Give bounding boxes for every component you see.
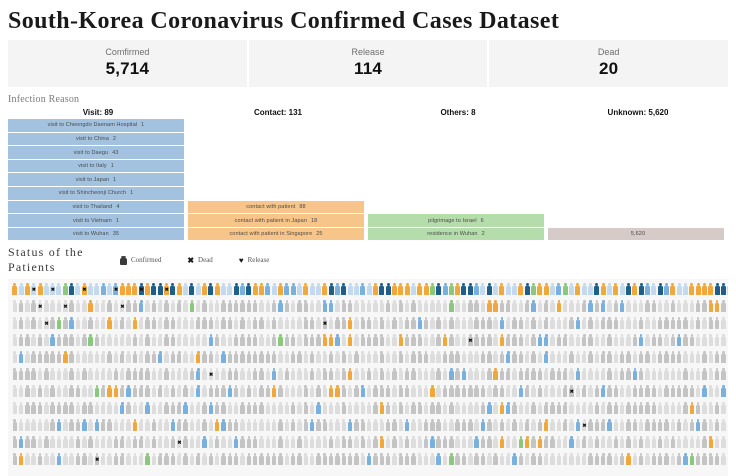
person-body [582,286,587,295]
person-body [247,337,251,345]
person-body [291,303,295,311]
patient-icon[interactable] [727,418,728,435]
person-body [215,337,219,345]
dead-marker-icon: ✖ [38,305,42,309]
person-body [63,456,67,464]
person-body [493,354,497,362]
person-body [63,439,67,447]
person-body [316,439,320,447]
person-body [361,303,365,311]
person-body [240,337,244,345]
person-body [13,303,17,311]
person-body [234,371,238,379]
person-body [139,439,143,447]
person-body [595,303,599,311]
person-body [557,371,561,379]
person-body [652,371,656,379]
person-body [418,320,422,328]
person-body [196,439,200,447]
person-body [380,388,384,396]
person-body [323,405,327,413]
person-body [405,286,410,295]
person-body [158,337,162,345]
person-body [177,303,181,311]
reason-bar[interactable]: visit to Japan1 [8,173,184,186]
person-body [544,405,548,413]
person-body [69,337,73,345]
person-body [57,388,61,396]
person-body [449,337,453,345]
person-body [481,388,485,396]
patient-grid-row: ✖✖✖✖✖✖ [8,282,728,299]
person-body [487,422,491,430]
person-body [671,456,675,464]
person-body [683,337,687,345]
person-body [234,354,238,362]
patient-grid-row: ✖ [8,418,728,435]
person-body [285,422,289,430]
person-body [145,456,149,464]
person-body [272,337,276,345]
person-body [278,337,282,345]
person-body [399,439,403,447]
person-body [177,405,181,413]
person-body [569,286,574,295]
person-body [544,422,548,430]
patient-icon[interactable] [727,282,728,299]
person-body [607,337,611,345]
reason-column-contact: contact with patient88contact with patie… [188,201,364,242]
person-body [481,439,485,447]
person-body [449,405,453,413]
person-body [120,286,125,295]
person-body [392,337,396,345]
patient-icon[interactable] [727,299,728,316]
reason-bar[interactable]: visit to Daegu43 [8,146,184,159]
person-body [120,405,124,413]
person-body [266,337,270,345]
person-body [329,405,333,413]
person-body [82,439,86,447]
person-body [190,371,194,379]
person-body [506,320,510,328]
person-body [487,354,491,362]
person-body [196,405,200,413]
patient-icon[interactable] [727,452,728,469]
stat-card-release: Release 114 [249,40,488,87]
person-body [443,337,447,345]
person-body [500,422,504,430]
cross-mark-icon: ✖ [187,256,194,265]
person-body [164,354,168,362]
person-body [424,303,428,311]
person-body [266,405,270,413]
reason-bar[interactable]: visit to Italy1 [8,160,184,173]
person-body [620,337,624,345]
person-body [436,388,440,396]
person-body [455,456,459,464]
person-body [354,286,359,295]
person-body [449,354,453,362]
person-body [544,456,548,464]
person-body [120,388,124,396]
stat-value-confirmed: 5,714 [8,59,247,79]
person-body [76,439,80,447]
person-body [392,456,396,464]
person-body [278,439,282,447]
person-body [481,422,485,430]
reason-bar-value: 25 [316,231,322,237]
person-body [449,303,453,311]
person-body [373,303,377,311]
person-body [639,456,643,464]
person-body [493,388,497,396]
person-body [380,320,384,328]
person-body [677,422,681,430]
reason-bar[interactable]: visit to Cheongdo Daenam Hospital1 [8,119,184,132]
person-body [215,422,219,430]
person-body [487,303,491,311]
person-body [373,388,377,396]
person-body [202,388,206,396]
person-body [348,286,353,295]
person-body [209,354,213,362]
reason-bar[interactable]: visit to Thailand4 [8,201,184,214]
person-body [278,354,282,362]
person-body [107,456,111,464]
person-body [107,405,111,413]
person-body [12,286,17,295]
person-body [620,388,624,396]
patient-grid-row: ✖ [8,435,728,452]
person-body [639,286,644,295]
person-body [158,422,162,430]
person-body [126,286,131,295]
patient-icon[interactable] [727,367,728,384]
person-body [253,422,257,430]
person-body [614,405,618,413]
person-body [512,371,516,379]
person-body [613,286,618,295]
person-body [550,405,554,413]
person-body [696,405,700,413]
person-body [266,303,270,311]
person-body [101,354,105,362]
person-body [614,337,618,345]
person-body [114,388,118,396]
person-body [101,286,106,295]
person-body [563,388,567,396]
person-body [398,286,403,295]
person-body [247,320,251,328]
reason-bar[interactable]: visit to Vietnam1 [8,214,184,227]
person-body [601,456,605,464]
person-body [569,456,573,464]
person-body [304,405,308,413]
person-body [721,337,725,345]
person-body [417,286,422,295]
person-body [234,320,238,328]
person-body [202,422,206,430]
person-body [285,337,289,345]
person-body [126,388,130,396]
person-body [297,439,301,447]
patient-icon[interactable] [727,435,728,452]
patient-icon[interactable] [727,401,728,418]
person-body [582,337,586,345]
reason-bar[interactable]: residence in Wuhan2 [368,228,544,241]
patient-icon[interactable] [727,316,728,333]
person-body [525,371,529,379]
person-body [69,405,73,413]
person-body [708,286,713,295]
person-body [715,337,719,345]
person-body [361,422,365,430]
person-body [114,456,118,464]
person-body [595,320,599,328]
person-body [291,286,296,295]
person-body [449,371,453,379]
person-body [31,439,35,447]
person-body [588,337,592,345]
person-body [418,456,422,464]
person-body [645,388,649,396]
person-body [348,456,352,464]
person-body [31,422,35,430]
person-body [44,303,48,311]
person-body [525,354,529,362]
person-body [63,405,67,413]
person-body [607,371,611,379]
person-body [519,303,523,311]
person-body [82,371,86,379]
person-body [721,303,725,311]
reason-bar[interactable]: visit to China2 [8,133,184,146]
reason-bar[interactable]: contact with patient in Singapore25 [188,228,364,241]
person-body [158,286,163,295]
person-body [493,337,497,345]
person-body [69,422,73,430]
person-body [335,405,339,413]
person-body [284,286,289,295]
person-body [152,388,156,396]
person-body [107,422,111,430]
person-body [506,388,510,396]
person-body [120,354,124,362]
person-body [531,354,535,362]
person-body [430,371,434,379]
person-body [449,320,453,328]
person-body [715,354,719,362]
person-body [240,303,244,311]
person-body [601,405,605,413]
person-body [380,405,384,413]
person-body [652,388,656,396]
person-body [190,337,194,345]
person-body [468,303,472,311]
reason-bar-label: visit to China [76,136,109,142]
person-body [253,371,257,379]
person-body [228,405,232,413]
person-body [677,303,681,311]
person-body [715,286,720,295]
patient-icon[interactable] [727,350,728,367]
person-body [424,337,428,345]
person-body [13,320,17,328]
person-body [620,405,624,413]
person-body [101,439,105,447]
reason-bar[interactable]: pilgrimage to Israel6 [368,214,544,227]
person-body [601,388,605,396]
person-body [544,371,548,379]
dead-marker-icon: ✖ [582,424,586,428]
person-body [690,303,694,311]
person-body [139,388,143,396]
person-body [297,405,301,413]
legend-label-confirmed: Confirmed [131,256,161,264]
person-body [323,371,327,379]
person-body [525,286,530,295]
person-body [69,286,74,295]
person-body [31,405,35,413]
person-body [525,337,529,345]
person-body [196,286,201,295]
person-body [316,320,320,328]
reason-bar[interactable]: visit to Wuhan35 [8,228,184,241]
person-body [361,371,365,379]
person-body [209,388,213,396]
stat-label-confirmed: Comfirmed [8,46,247,59]
dead-marker-icon: ✖ [114,288,118,292]
person-body [696,286,701,295]
person-body [500,354,504,362]
person-body [13,405,17,413]
person-body [266,422,270,430]
person-body [215,405,219,413]
reason-bar[interactable]: visit to Shincheonji Church1 [8,187,184,200]
person-body [177,337,181,345]
person-body [418,422,422,430]
person-body [455,439,459,447]
person-body [462,354,466,362]
person-body [253,439,257,447]
person-body [259,388,263,396]
person-body [563,354,567,362]
patient-status-grid: ✖✖✖✖✖✖✖✖✖✖✖✖✖✖✖✖✖ [8,279,728,476]
person-body [607,405,611,413]
person-body [721,422,725,430]
person-body [354,303,358,311]
person-body [88,439,92,447]
person-body [462,388,466,396]
person-body [696,439,700,447]
reason-bar[interactable]: contact with patient88 [188,201,364,214]
reason-bar[interactable]: contact with patient in Japan18 [188,214,364,227]
person-body [626,354,630,362]
person-body [19,405,23,413]
person-body [63,286,68,295]
person-body [107,303,111,311]
person-body [430,303,434,311]
person-body [493,371,497,379]
person-body [240,320,244,328]
person-body [291,456,295,464]
person-body [405,405,409,413]
person-body [88,303,92,311]
person-body [44,354,48,362]
person-body [493,320,497,328]
person-body [25,371,29,379]
person-body [487,439,491,447]
person-body [424,422,428,430]
reason-bar-value: 5,620 [631,231,645,237]
person-body [550,337,554,345]
patient-grid-row: ✖ [8,452,728,469]
person-body [348,439,352,447]
person-body [512,320,516,328]
legend-label-dead: Dead [198,256,213,264]
person-body [519,354,523,362]
person-body [31,320,35,328]
person-body [601,354,605,362]
patient-icon[interactable] [727,333,728,350]
person-body [297,371,301,379]
person-body [651,286,656,295]
person-body [316,422,320,430]
person-body [462,303,466,311]
person-body [633,320,637,328]
person-body [645,405,649,413]
person-body [266,371,270,379]
patient-icon[interactable] [727,384,728,401]
person-body [196,371,200,379]
person-body [152,303,156,311]
person-body [63,320,67,328]
person-body [240,371,244,379]
person-body [550,303,554,311]
reason-bar[interactable]: 5,620 [548,228,724,241]
person-body [202,337,206,345]
person-body [652,354,656,362]
person-body [386,439,390,447]
person-body [164,388,168,396]
person-body [588,456,592,464]
person-body [683,303,687,311]
person-body [582,388,586,396]
person-body [278,422,282,430]
person-body [202,320,206,328]
person-body [601,320,605,328]
person-body [151,286,156,295]
reason-bar-label: visit to Shincheonji Church [59,190,127,196]
person-body [202,456,206,464]
person-body [202,354,206,362]
stat-card-confirmed: Comfirmed 5,714 [8,40,247,87]
person-body [430,456,434,464]
person-body [386,337,390,345]
reason-bar-label: visit to Thailand [73,204,113,210]
person-body [164,456,168,464]
person-body [354,320,358,328]
person-body [297,286,302,295]
person-body [266,388,270,396]
person-body [13,456,17,464]
person-body [215,371,219,379]
person-body [107,286,112,295]
person-body [487,456,491,464]
person-body [145,422,149,430]
person-body [291,337,295,345]
